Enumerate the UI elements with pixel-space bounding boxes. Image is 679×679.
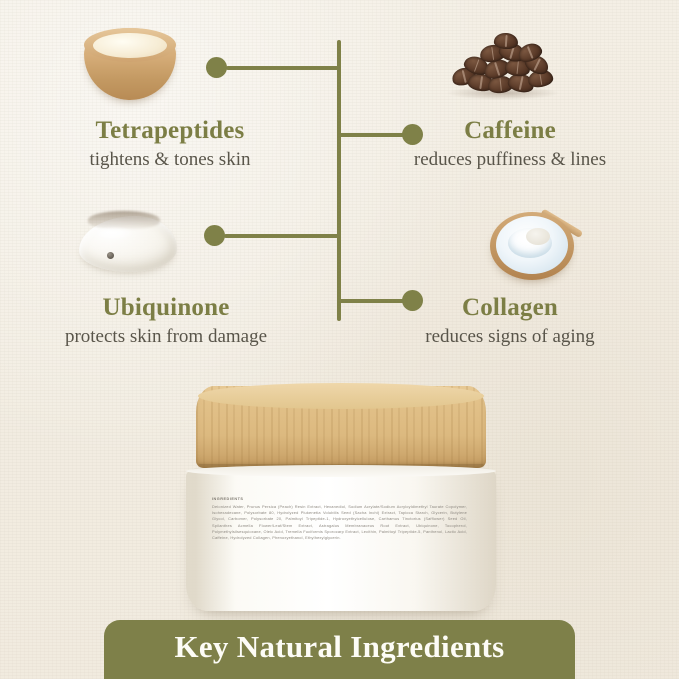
coffee-beans-image <box>442 30 564 106</box>
ingredient-name: Tetrapeptides <box>10 118 330 143</box>
ingredients-heading: INGREDIENTS <box>212 496 467 502</box>
ingredient-block-collagen: Collagen reduces signs of aging <box>350 295 670 348</box>
connector-branch-top-left <box>226 66 339 70</box>
ingredient-name: Ubiquinone <box>6 295 326 320</box>
coffee-bean <box>493 32 518 50</box>
ingredient-benefit: tightens & tones skin <box>10 150 330 171</box>
ingredient-benefit: protects skin from damage <box>6 327 326 348</box>
connector-branch-bottom-left <box>224 234 339 238</box>
spoon-bowl-shape <box>526 228 550 245</box>
ingredient-block-tetrapeptides: Tetrapeptides tightens & tones skin <box>10 118 330 171</box>
ingredient-name: Collagen <box>350 295 670 320</box>
ingredient-benefit: reduces puffiness & lines <box>350 150 670 171</box>
ingredient-name: Caffeine <box>350 118 670 143</box>
connector-dot-ubiquinone <box>204 225 225 246</box>
bowl-cream-surface <box>93 33 167 58</box>
ingredient-block-ubiquinone: Ubiquinone protects skin from damage <box>6 295 326 348</box>
connector-spine <box>337 40 341 321</box>
gel-highlight <box>94 226 134 240</box>
product-jar-image: INGREDIENTS Deionized Water, Prunus Pers… <box>172 386 509 629</box>
jar-ingredients-label: INGREDIENTS Deionized Water, Prunus Pers… <box>212 496 467 542</box>
key-natural-ingredients-banner: Key Natural Ingredients <box>104 620 575 679</box>
jar-body-shoulder <box>186 465 496 477</box>
gel-bubble <box>107 252 114 259</box>
bowl-with-spoon-cream-image <box>478 204 590 286</box>
banner-label: Key Natural Ingredients <box>104 629 575 665</box>
jar-lid-top-surface <box>198 383 484 409</box>
clear-gel-drop-image <box>74 204 182 282</box>
ingredients-text: Deionized Water, Prunus Persica (Peach) … <box>212 504 467 541</box>
wooden-bowl-of-cream-image <box>78 22 182 104</box>
poster-background: Tetrapeptides tightens & tones skin Caff… <box>0 0 679 679</box>
connector-dot-tetrapeptides <box>206 57 227 78</box>
ingredient-benefit: reduces signs of aging <box>350 327 670 348</box>
ingredient-block-caffeine: Caffeine reduces puffiness & lines <box>350 118 670 171</box>
